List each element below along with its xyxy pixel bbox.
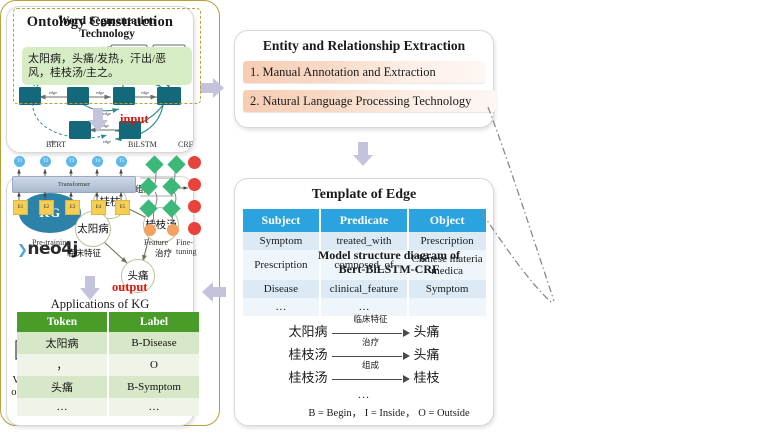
bert-input-embedding: E1 <box>13 200 28 215</box>
triple-predicate: 临床特征 <box>353 313 387 325</box>
bilstm-label: BiLSTM <box>128 140 157 149</box>
crf-node <box>188 178 201 191</box>
triple-subject: 太阳病 <box>288 321 327 340</box>
cell-subject: Disease <box>243 280 321 298</box>
bilstm-cell <box>162 177 180 195</box>
col-label: Label <box>108 312 199 332</box>
transformer-block: Transformer <box>12 176 136 193</box>
bert-output-token: T5 <box>116 156 127 167</box>
bert-output-token: T2 <box>40 156 51 167</box>
model-structure-diagram: BERT BiLSTM CRF T1 T2 T3 T4 T5 Transform… <box>10 140 206 248</box>
crf-node <box>188 222 201 235</box>
bert-input-embedding: E4 <box>91 200 106 215</box>
arrow-ontology-to-entity <box>200 78 226 98</box>
input-label: input <box>120 112 149 127</box>
ws-title-line1: Word Segmentation <box>58 15 156 27</box>
table-header-row: Subject Predicate Object <box>243 209 486 232</box>
triple-predicate: 组成 <box>362 359 379 371</box>
triple-subject: 桂枝汤 <box>288 344 327 363</box>
word-segmentation-title: Word Segmentation Technology <box>14 15 200 41</box>
model-title-line1: Model structure diagram of <box>318 248 460 262</box>
token-label-table: Token Label 太阳病 B-Disease ， O 头痛 B-Sympt… <box>17 312 199 416</box>
nlp-pipeline-panel: Word Segmentation Technology 太阳病，头痛/发热，汗… <box>0 0 220 426</box>
model-title: Model structure diagram of Bert-BiLSTM-C… <box>0 248 778 276</box>
arrow-entity-to-template <box>353 142 373 168</box>
table-row: 头痛 B-Symptom <box>17 376 199 398</box>
entity-title: Entity and Relationship Extraction <box>235 38 493 54</box>
applications-title: Applications of KG <box>7 297 193 312</box>
feature-label: Feature <box>144 238 168 247</box>
entity-method-nlp[interactable]: 2. Natural Language Processing Technolog… <box>243 90 496 112</box>
triple-object: 头痛 <box>414 344 440 363</box>
ws-title-line2: Technology <box>79 28 135 40</box>
bilstm-cell <box>145 155 163 173</box>
cell-label: O <box>108 354 199 376</box>
cell-object <box>408 298 486 316</box>
entity-method-manual[interactable]: 1. Manual Annotation and Extraction <box>243 61 485 83</box>
triple-object: 桂枝 <box>414 367 440 386</box>
cell-subject: … <box>243 298 321 316</box>
cell-token: ， <box>17 354 108 376</box>
template-of-edge-panel: Template of Edge Subject Predicate Objec… <box>234 178 494 426</box>
bilstm-cell <box>139 199 157 217</box>
model-title-line2: Bert-BiLSTM-CRF <box>339 262 440 276</box>
bert-label: BERT <box>46 140 66 149</box>
entity-relationship-extraction-panel: Entity and Relationship Extraction 1. Ma… <box>234 30 494 128</box>
template-title: Template of Edge <box>235 187 493 203</box>
triple-object: 头痛 <box>414 321 440 340</box>
cell-object: Symptom <box>408 280 486 298</box>
triple-examples: 太阳病 临床特征 头痛 桂枝汤 治疗 头痛 桂枝汤 组成 桂枝 … <box>235 321 493 402</box>
col-predicate: Predicate <box>320 209 407 232</box>
bilstm-cell <box>162 199 180 217</box>
col-subject: Subject <box>243 209 321 232</box>
arrow-template-to-kg <box>200 282 226 302</box>
bert-output-token: T4 <box>92 156 103 167</box>
segmented-text: 太阳病，头痛/发热，汗出/恶风，桂枝汤/主之。 <box>22 47 192 85</box>
bilstm-input-node <box>144 224 156 236</box>
triple-row: 桂枝汤 组成 桂枝 <box>235 367 493 386</box>
table-header-row: Token Label <box>17 312 199 332</box>
cell-token: 太阳病 <box>17 332 108 354</box>
bilstm-input-node <box>167 224 179 236</box>
label-legend: B = Begin， I = Inside， O = Outside <box>0 405 778 420</box>
crf-node <box>188 156 201 169</box>
bilstm-cell <box>139 177 157 195</box>
bert-output-token: T3 <box>66 156 77 167</box>
col-object: Object <box>408 209 486 232</box>
table-row: 太阳病 B-Disease <box>17 332 199 354</box>
pretraining-label: Pre-training <box>32 238 70 247</box>
crf-label: CRF <box>178 140 193 149</box>
triple-subject: 桂枝汤 <box>288 367 327 386</box>
bilstm-cell <box>167 155 185 173</box>
table-row: ， O <box>17 354 199 376</box>
cell-label: B-Disease <box>108 332 199 354</box>
output-arrow-icon <box>80 276 100 300</box>
cell-predicate: clinical_feature <box>320 280 407 298</box>
input-arrow-icon <box>88 108 108 132</box>
bert-input-embedding: E3 <box>65 200 80 215</box>
table-row: Disease clinical_feature Symptom <box>243 280 486 298</box>
bert-input-embedding: E2 <box>39 200 54 215</box>
col-token: Token <box>17 312 108 332</box>
triple-predicate: 治疗 <box>362 336 379 348</box>
cell-token: 头痛 <box>17 376 108 398</box>
triple-ellipsis: … <box>235 387 493 402</box>
word-segmentation-box: Word Segmentation Technology 太阳病，头痛/发热，汗… <box>13 8 201 104</box>
cell-label: B-Symptom <box>108 376 199 398</box>
bert-output-token: T1 <box>14 156 25 167</box>
bert-input-embedding: E5 <box>115 200 130 215</box>
crf-node <box>188 200 201 213</box>
triple-arrow: 组成 <box>332 370 410 384</box>
output-label: output <box>112 280 147 295</box>
